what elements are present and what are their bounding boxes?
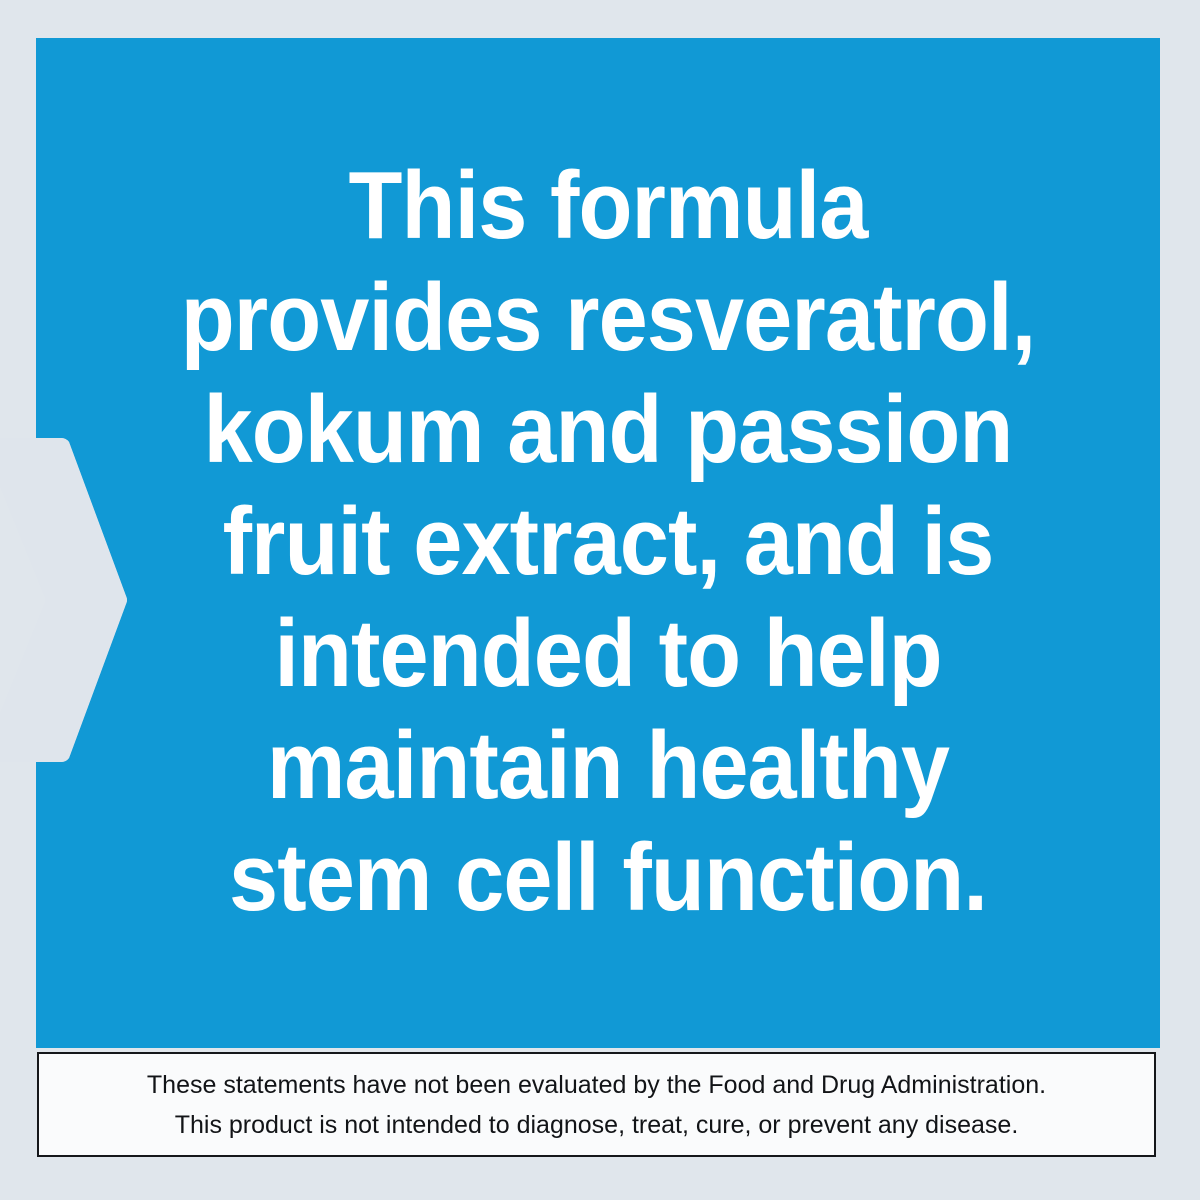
disclaimer-line-1: These statements have not been evaluated… — [147, 1065, 1046, 1105]
claim-heading: This formula provides resveratrol, kokum… — [170, 150, 1046, 934]
disclaimer-line-2: This product is not intended to diagnose… — [175, 1105, 1019, 1145]
claim-card: This formula provides resveratrol, kokum… — [0, 0, 1200, 1200]
fda-disclaimer-box: These statements have not been evaluated… — [37, 1052, 1156, 1157]
